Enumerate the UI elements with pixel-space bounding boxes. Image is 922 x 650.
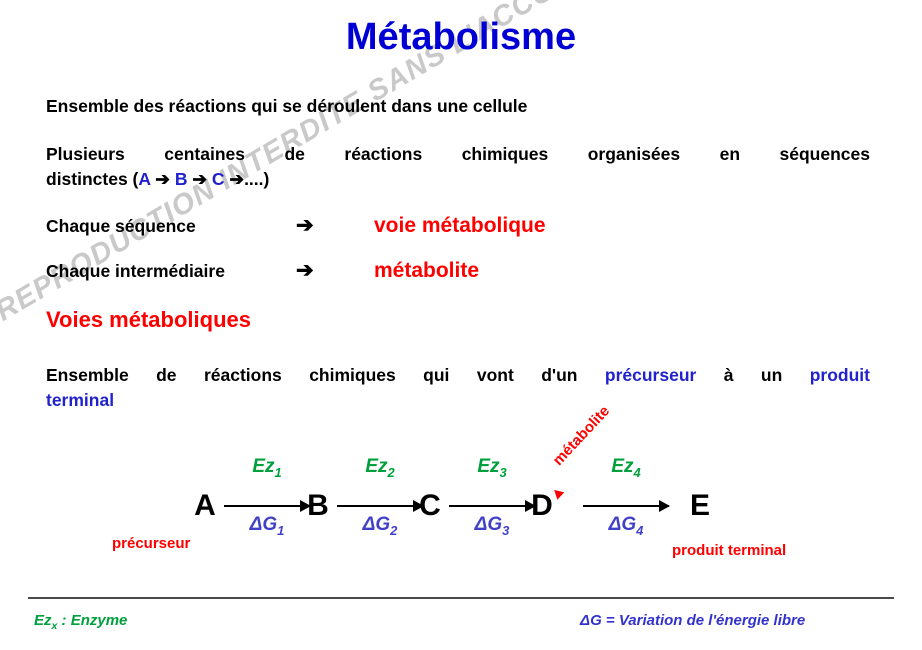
delta-g-label-3: ΔG3 — [475, 514, 510, 538]
enzyme-label-3: Ez3 — [477, 456, 506, 480]
enzyme-label-1: Ez1 — [252, 456, 281, 480]
seq-arrow-1: ➔ — [155, 169, 170, 189]
metabolic-pathway-diagram: A B C D E Ez1 Ez2 Ez3 Ez4 ΔG1 ΔG2 ΔG3 ΔG… — [0, 430, 922, 590]
enzyme-index-3: 3 — [500, 465, 507, 480]
paragraph-voies-line2: terminal — [46, 388, 870, 413]
paragraph-voies-definition: Ensemble de réactions chimiques qui vont… — [46, 363, 870, 413]
delta-g-index-1: 1 — [277, 523, 284, 538]
reaction-arrow-3-icon — [449, 505, 535, 507]
mapping-row-intermediaire: Chaque intermédiaire➔métabolite — [46, 258, 479, 283]
footnote-enzyme-suffix: : Enzyme — [57, 612, 127, 629]
delta-g-index-2: 2 — [390, 523, 397, 538]
metabolite-a: A — [138, 169, 150, 189]
sequence-suffix: ....) — [244, 169, 269, 189]
paragraph-sequences-line2: distinctes (A ➔ B ➔ C ➔....) — [46, 167, 870, 192]
delta-g-label-1: ΔG1 — [250, 514, 285, 538]
mapping-row-sequence: Chaque séquence➔voie métabolique — [46, 213, 546, 238]
enzyme-index-4: 4 — [634, 465, 641, 480]
voies-part1: Ensemble de réactions chimiques qui vont… — [46, 365, 605, 385]
paragraph-sequences: Plusieurs centaines de réactions chimiqu… — [46, 142, 870, 192]
mapping-value-voie-metabolique: voie métabolique — [374, 214, 546, 237]
right-arrow-icon: ➔ — [296, 213, 374, 238]
delta-g-text-1: ΔG — [250, 514, 278, 535]
delta-g-index-3: 3 — [502, 523, 509, 538]
reaction-arrow-2-icon — [337, 505, 423, 507]
mapping-label-sequence: Chaque séquence — [46, 216, 296, 237]
term-produit: produit — [810, 365, 870, 385]
reaction-arrow-4-icon — [583, 505, 669, 507]
seq-arrow-2: ➔ — [192, 169, 207, 189]
enzyme-text-1: Ez — [252, 456, 274, 477]
slide-canvas: REPRODUCTION INTERDITE SANS L'ACCORD DES… — [0, 0, 922, 650]
footnote-enzyme-legend: Ezx : Enzyme — [34, 612, 127, 632]
delta-g-index-4: 4 — [636, 523, 643, 538]
mapping-value-metabolite: métabolite — [374, 259, 479, 282]
voies-part2: à un — [696, 365, 809, 385]
mapping-label-intermediaire: Chaque intermédiaire — [46, 261, 296, 282]
delta-g-text-4: ΔG — [609, 514, 637, 535]
delta-g-label-4: ΔG4 — [609, 514, 644, 538]
callout-precurseur: précurseur — [112, 535, 190, 552]
page-title: Métabolisme — [0, 16, 922, 59]
enzyme-text-3: Ez — [477, 456, 499, 477]
callout-produit-terminal: produit terminal — [672, 542, 786, 559]
pathway-node-e: E — [690, 489, 710, 523]
right-arrow-icon: ➔ — [296, 258, 374, 283]
reaction-arrow-1-icon — [224, 505, 310, 507]
enzyme-index-2: 2 — [388, 465, 395, 480]
metabolite-c: C — [212, 169, 225, 189]
footnote-delta-g-legend: ΔG = Variation de l'énergie libre — [580, 612, 805, 629]
delta-g-text-2: ΔG — [363, 514, 391, 535]
enzyme-label-4: Ez4 — [611, 456, 640, 480]
enzyme-index-1: 1 — [275, 465, 282, 480]
paragraph-sequences-line1: Plusieurs centaines de réactions chimiqu… — [46, 142, 870, 167]
pathway-node-a: A — [194, 489, 216, 523]
enzyme-label-2: Ez2 — [365, 456, 394, 480]
enzyme-text-2: Ez — [365, 456, 387, 477]
seq-arrow-3: ➔ — [229, 169, 244, 189]
enzyme-text-4: Ez — [611, 456, 633, 477]
paragraph-definition: Ensemble des réactions qui se déroulent … — [46, 94, 746, 119]
delta-g-label-2: ΔG2 — [363, 514, 398, 538]
delta-g-text-3: ΔG — [475, 514, 503, 535]
section-heading-voies-metaboliques: Voies métaboliques — [46, 307, 251, 333]
footer-divider — [28, 597, 894, 599]
footnote-enzyme-prefix: Ez — [34, 612, 52, 629]
term-precurseur: précurseur — [605, 365, 696, 385]
metabolite-b: B — [175, 169, 188, 189]
sequence-prefix: distinctes ( — [46, 169, 138, 189]
paragraph-voies-line1: Ensemble de réactions chimiques qui vont… — [46, 363, 870, 388]
